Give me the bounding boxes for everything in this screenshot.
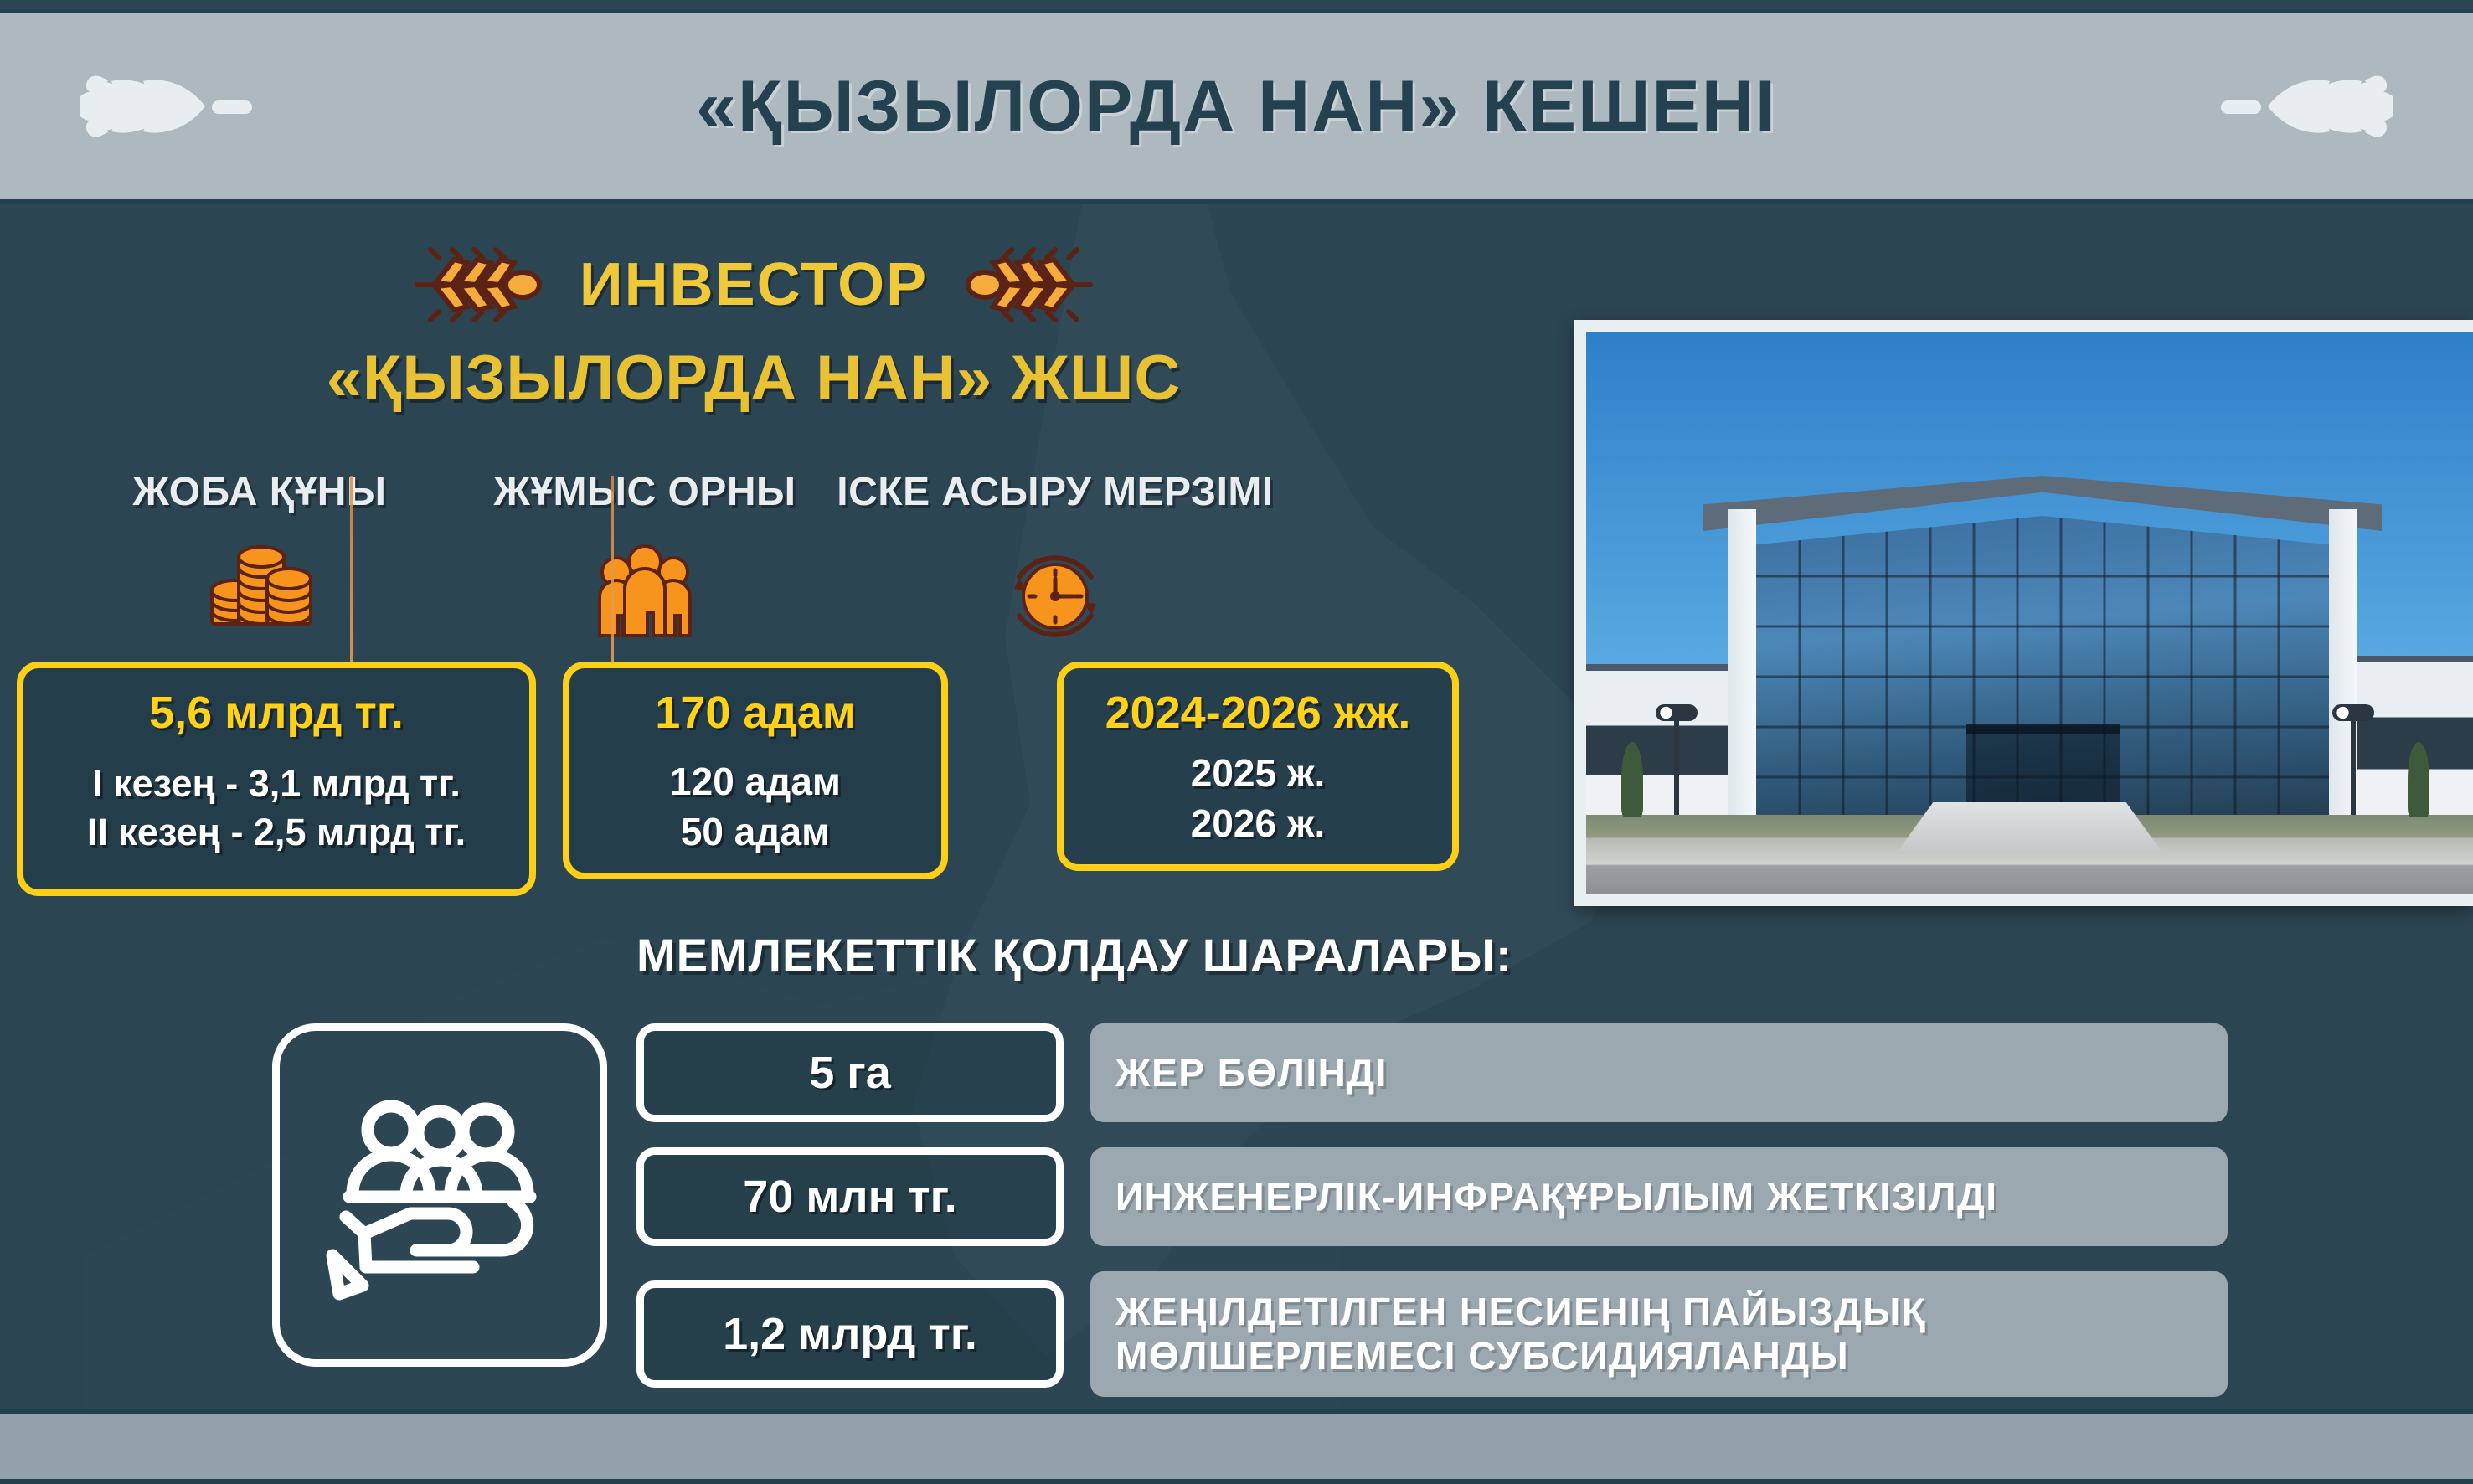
value-box-term: 2024-2026 жж. 2025 ж. 2026 ж. [1057, 662, 1459, 871]
photo-street-lamp [1674, 716, 1679, 815]
stat-column-jobs: ЖҰМЫС ОРНЫ [502, 469, 787, 678]
clock-icon [1001, 542, 1110, 655]
wheat-ear-icon [405, 243, 548, 327]
value-sub: 50 адам [681, 809, 830, 854]
value-main: 170 адам [655, 687, 855, 739]
value-sub: II кезең - 2,5 млрд тг. [87, 811, 466, 854]
stat-column-term: ІСКЕ АСЫРУ МЕРЗІМІ [787, 469, 1323, 678]
header-bar: «ҚЫЗЫЛОРДА НАН» КЕШЕНІ [0, 9, 2473, 204]
building-photo [1574, 320, 2473, 906]
photo-tree [2408, 742, 2429, 817]
footer-bar [0, 1409, 2473, 1484]
support-description-bar: ИНЖЕНЕРЛІК-ИНФРАҚҰРЫЛЫМ ЖЕТКІЗІЛДІ [1090, 1147, 2228, 1246]
people-group-icon [595, 542, 695, 645]
photo-stairs [1896, 802, 2164, 854]
page-title: «ҚЫЗЫЛОРДА НАН» КЕШЕНІ [696, 65, 1777, 148]
column-divider [350, 476, 353, 668]
value-sub: 2025 ж. [1191, 750, 1326, 796]
support-description-bar: ЖЕР БӨЛІНДІ [1090, 1023, 2228, 1122]
support-section-title: МЕМЛЕКЕТТІК ҚОЛДАУ ШАРАЛАРЫ: [636, 928, 1512, 982]
support-value: 1,2 млрд тг. [723, 1308, 977, 1360]
column-divider [611, 476, 614, 668]
value-sub: 2026 ж. [1191, 801, 1326, 846]
support-value: 70 млн тг. [743, 1171, 956, 1223]
stat-column-project-cost: ЖОБА ҚҰНЫ [17, 469, 502, 678]
support-row: 70 млн тг. ИНЖЕНЕРЛІК-ИНФРАҚҰРЫЛЫМ ЖЕТКІ… [636, 1147, 2228, 1246]
stat-title: ЖОБА ҚҰНЫ [133, 469, 387, 515]
support-description: ЖЕР БӨЛІНДІ [1115, 1051, 1388, 1095]
support-description-bar: ЖЕҢІЛДЕТІЛГЕН НЕСИЕНІҢ ПАЙЫЗДЫҚ МӨЛШЕРЛЕ… [1090, 1271, 2228, 1397]
value-main: 5,6 млрд тг. [149, 687, 404, 739]
coins-stack-icon [197, 542, 322, 638]
photo-main-building [1733, 476, 2352, 836]
support-row: 1,2 млрд тг. ЖЕҢІЛДЕТІЛГЕН НЕСИЕНІҢ ПАЙЫ… [636, 1271, 2228, 1397]
investor-company-name: «ҚЫЗЫЛОРДА НАН» ЖШС [100, 342, 1407, 415]
wheat-ear-icon [80, 52, 255, 161]
value-box-project-cost: 5,6 млрд тг. I кезең - 3,1 млрд тг. II к… [17, 662, 536, 896]
support-description: ИНЖЕНЕРЛІК-ИНФРАҚҰРЫЛЫМ ЖЕТКІЗІЛДІ [1115, 1175, 1998, 1219]
support-value: 5 га [809, 1047, 891, 1099]
value-sub: 120 адам [670, 759, 841, 804]
wheat-ear-icon [960, 243, 1102, 327]
stat-title: ІСКЕ АСЫРУ МЕРЗІМІ [837, 469, 1273, 515]
photo-street-lamp [2351, 716, 2356, 815]
support-rows-list: 5 га ЖЕР БӨЛІНДІ 70 млн тг. ИНЖЕНЕРЛІК-И… [636, 1023, 2228, 1422]
hand-supporting-people-icon [272, 1023, 607, 1367]
value-sub: I кезең - 3,1 млрд тг. [92, 762, 461, 806]
investor-label: ИНВЕСТОР [580, 250, 928, 319]
slide-canvas: «ҚЫЗЫЛОРДА НАН» КЕШЕНІ [0, 0, 2473, 1484]
photo-tree [1621, 742, 1643, 817]
stat-title: ЖҰМЫС ОРНЫ [493, 469, 796, 515]
value-main: 2024-2026 жж. [1105, 687, 1411, 739]
value-box-jobs: 170 адам 120 адам 50 адам [563, 662, 948, 879]
support-value-box: 5 га [636, 1023, 1064, 1122]
support-description: ЖЕҢІЛДЕТІЛГЕН НЕСИЕНІҢ ПАЙЫЗДЫҚ МӨЛШЕРЛЕ… [1115, 1290, 2203, 1378]
support-value-box: 1,2 млрд тг. [636, 1280, 1064, 1388]
support-value-box: 70 млн тг. [636, 1147, 1064, 1246]
investor-block: ИНВЕСТОР «ҚЫЗЫЛОРДА НАН» Ж [100, 243, 1407, 415]
support-row: 5 га ЖЕР БӨЛІНДІ [636, 1023, 2228, 1122]
wheat-ear-icon [2218, 52, 2393, 161]
